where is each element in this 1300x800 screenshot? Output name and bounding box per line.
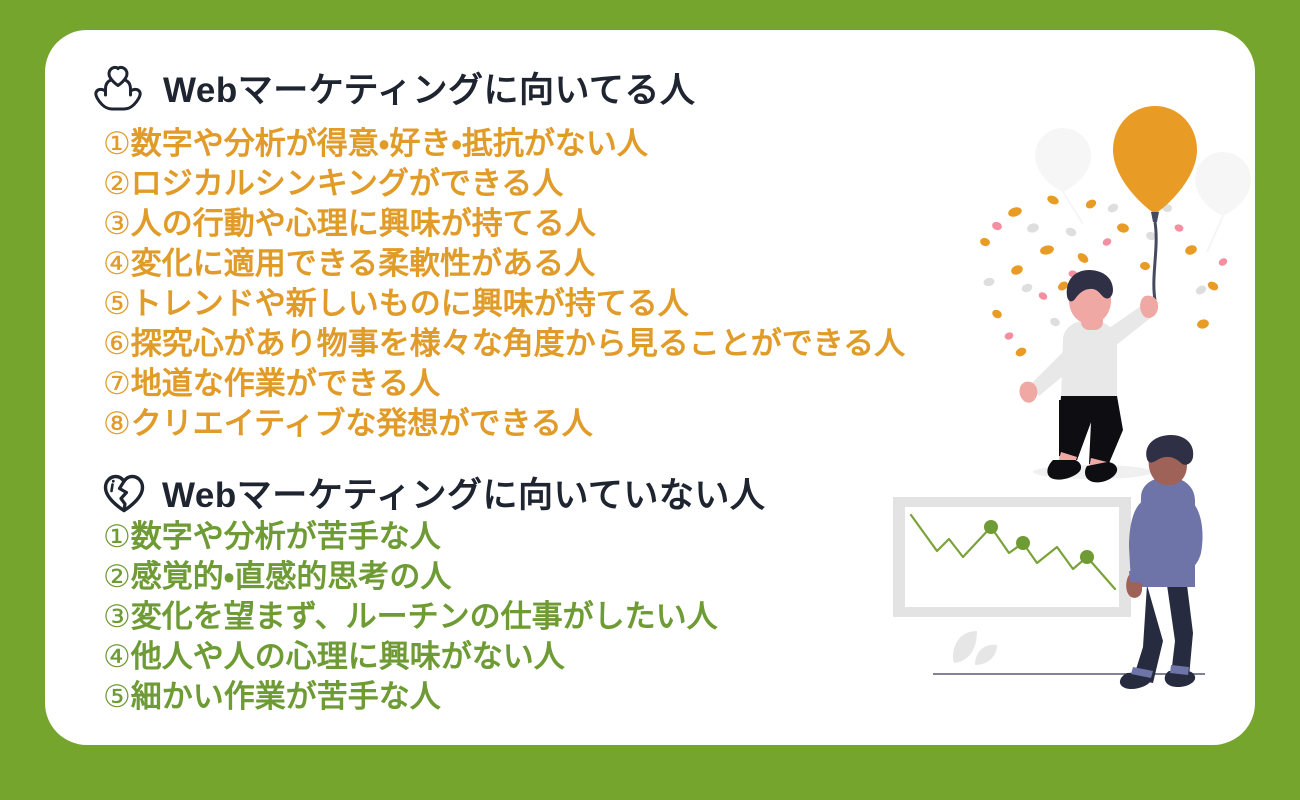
list-item: ⑤細かい作業が苦手な人 <box>103 677 718 717</box>
list-item: ②ロジカルシンキングができる人 <box>103 164 905 204</box>
list-item: ③変化を望まず、ルーチンの仕事がしたい人 <box>103 597 718 637</box>
list-item-text: 変化を望まず、ルーチンの仕事がしたい人 <box>131 599 718 634</box>
heading-not-suited: Webマーケティングに向いていない人 <box>100 467 765 518</box>
illustration-decline <box>875 435 1255 735</box>
list-item: ⑤トレンドや新しいものに興味が持てる人 <box>103 284 905 324</box>
list-item-number: ③ <box>103 599 131 635</box>
list-item-text: ロジカルシンキングができる人 <box>131 166 563 201</box>
list-item-number: ⑧ <box>103 406 131 442</box>
heading-not-suited-text: Webマーケティングに向いていない人 <box>162 467 765 518</box>
list-item-text: トレンドや新しいものに興味が持てる人 <box>131 286 689 321</box>
list-item-number: ② <box>103 559 131 595</box>
illustration-celebration <box>955 100 1255 490</box>
list-item-number: ③ <box>103 206 131 242</box>
list-item-number: ① <box>103 519 131 555</box>
list-item-number: ① <box>103 126 131 162</box>
chart-point <box>1016 536 1030 550</box>
person-back-view <box>1120 435 1203 689</box>
ghost-balloon-left <box>1035 128 1091 224</box>
leaf-decoration <box>953 631 997 665</box>
chart-point <box>984 520 998 534</box>
list-item: ⑥探究心があり物事を様々な角度から見ることができる人 <box>103 324 905 364</box>
infographic-canvas: Webマーケティングに向いてる人 ①数字や分析が得意・好き・抵抗がない人 ②ロジ… <box>0 0 1300 800</box>
chart-frame <box>893 497 1131 617</box>
list-not-suited: ①数字や分析が苦手な人 ②感覚的・直感的思考の人 ③変化を望まず、ルーチンの仕事… <box>103 517 718 717</box>
orange-balloon <box>1113 106 1197 300</box>
list-item-number: ⑤ <box>103 679 131 715</box>
list-item-text: 他人や人の心理に興味がない人 <box>131 639 565 674</box>
list-item-text: 地道な作業ができる人 <box>131 366 440 401</box>
list-item: ⑦地道な作業ができる人 <box>103 364 905 404</box>
list-item-number: ⑤ <box>103 286 131 322</box>
list-item: ①数字や分析が得意・好き・抵抗がない人 <box>103 124 905 164</box>
broken-heart-icon <box>100 471 148 515</box>
list-item: ①数字や分析が苦手な人 <box>103 517 718 557</box>
list-item-text: 人の行動や心理に興味が持てる人 <box>131 206 596 241</box>
chart-point <box>1080 550 1094 564</box>
list-item: ④他人や人の心理に興味がない人 <box>103 637 718 677</box>
list-item: ④変化に適用できる柔軟性がある人 <box>103 244 905 284</box>
hands-holding-heart-icon <box>87 63 149 113</box>
list-item-text: 細かい作業が苦手な人 <box>131 679 441 714</box>
list-item: ②感覚的・直感的思考の人 <box>103 557 718 597</box>
list-item: ⑧クリエイティブな発想ができる人 <box>103 404 905 444</box>
list-item-number: ④ <box>103 246 131 282</box>
list-item-text: 数字や分析が得意・好き・抵抗がない人 <box>131 126 648 161</box>
list-item-text: 数字や分析が苦手な人 <box>131 519 441 554</box>
list-item: ③人の行動や心理に興味が持てる人 <box>103 204 905 244</box>
heading-suited: Webマーケティングに向いてる人 <box>87 62 695 113</box>
heading-suited-text: Webマーケティングに向いてる人 <box>163 62 695 113</box>
list-suited: ①数字や分析が得意・好き・抵抗がない人 ②ロジカルシンキングができる人 ③人の行… <box>103 124 905 444</box>
list-item-text: 感覚的・直感的思考の人 <box>131 559 452 594</box>
list-item-number: ④ <box>103 639 131 675</box>
ghost-balloon-right <box>1195 152 1251 252</box>
list-item-number: ⑦ <box>103 366 131 402</box>
list-item-number: ② <box>103 166 131 202</box>
list-item-text: クリエイティブな発想ができる人 <box>131 406 593 441</box>
list-item-text: 変化に適用できる柔軟性がある人 <box>131 246 595 281</box>
list-item-text: 探究心があり物事を様々な角度から見ることができる人 <box>131 326 905 361</box>
content-card: Webマーケティングに向いてる人 ①数字や分析が得意・好き・抵抗がない人 ②ロジ… <box>45 30 1255 745</box>
list-item-number: ⑥ <box>103 326 131 362</box>
